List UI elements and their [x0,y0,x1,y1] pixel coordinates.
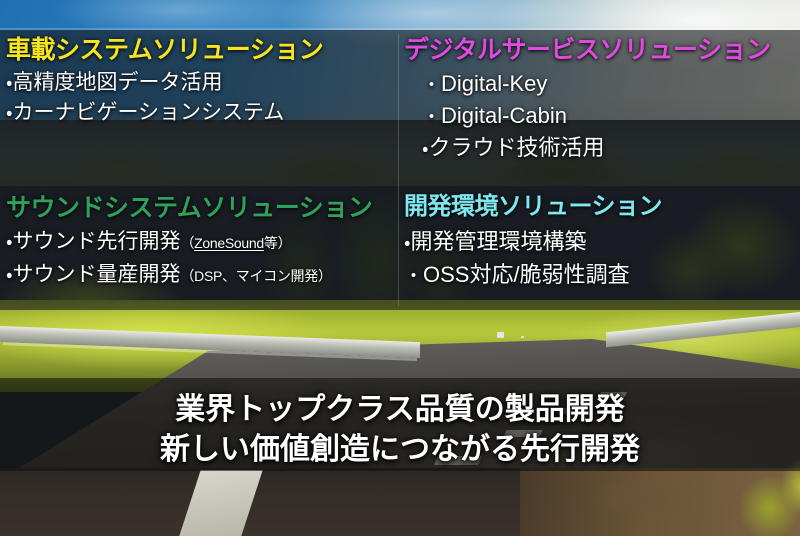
list-item-label: サウンド量産開発 [12,263,180,286]
list-item-note: （DSP、マイコン開発） [180,268,331,284]
list-development-environment-solution: ・開発管理環境構築 ・OSS対応/脆弱性調査 [404,225,798,292]
heading-sound-system-solution: サウンドシステムソリューション [6,194,398,222]
list-item-label: 高精度地図データ活用 [12,71,222,94]
bullet-icon: ・ [404,266,423,287]
list-item: ・サウンド先行開発（ZoneSound等） [6,226,398,259]
list-item: ・クラウド技術活用 [422,132,798,164]
quadrant-sound-system-solution: サウンドシステムソリューション ・サウンド先行開発（ZoneSound等） ・サ… [6,194,398,291]
list-item-label: 開発管理環境構築 [410,229,586,254]
list-item-label: サウンド先行開発 [12,230,180,253]
list-item: ・サウンド量産開発（DSP、マイコン開発） [6,259,398,292]
list-item-label: カーナビゲーションシステム [12,101,284,124]
list-item: ・カーナビゲーションシステム [6,98,398,128]
note-open-paren: （ [180,268,194,284]
list-item-note: （ZoneSound等） [180,235,291,251]
list-item-label: クラウド技術活用 [428,135,604,160]
list-item: ・高精度地図データ活用 [6,68,398,98]
list-item: ・Digital-Key [422,68,798,100]
heading-digital-service-solution: デジタルサービスソリューション [404,36,798,64]
banner-line-1: 業界トップクラス品質の製品開発 [0,390,800,430]
list-vehicle-system-solution: ・高精度地図データ活用 ・カーナビゲーションシステム [6,68,398,128]
heading-vehicle-system-solution: 車載システムソリューション [6,36,398,64]
list-item-label: Digital-Key [441,71,547,96]
slide-content: 車載システムソリューション ・高精度地図データ活用 ・カーナビゲーションシステム… [0,0,800,536]
list-sound-system-solution: ・サウンド先行開発（ZoneSound等） ・サウンド量産開発（DSP、マイコン… [6,226,398,291]
banner-line-2: 新しい価値創造につながる先行開発 [0,430,800,470]
list-item-label: OSS対応/脆弱性調査 [423,262,630,287]
bullet-icon: ・ [422,107,441,128]
bullet-icon: ・ [422,75,441,96]
list-item: ・開発管理環境構築 [404,225,798,259]
slide-canvas: 車載システムソリューション ・高精度地図データ活用 ・カーナビゲーションシステム… [0,0,800,536]
note-tail: 等） [264,235,291,251]
list-item: ・Digital-Cabin [422,100,798,132]
note-open-paren: （ [180,235,194,251]
list-digital-service-solution: ・Digital-Key ・Digital-Cabin ・クラウド技術活用 [404,68,798,164]
heading-development-environment-solution: 開発環境ソリューション [404,194,798,221]
note-tail: DSP、マイコン開発） [194,268,332,284]
list-item-label: Digital-Cabin [441,103,567,128]
note-underlined-term: ZoneSound [194,235,264,251]
quadrant-development-environment-solution: 開発環境ソリューション ・開発管理環境構築 ・OSS対応/脆弱性調査 [404,194,798,292]
quadrant-vehicle-system-solution: 車載システムソリューション ・高精度地図データ活用 ・カーナビゲーションシステム [6,36,398,128]
list-item: ・OSS対応/脆弱性調査 [404,258,798,292]
quadrant-digital-service-solution: デジタルサービスソリューション ・Digital-Key ・Digital-Ca… [404,36,798,164]
bottom-banner: 業界トップクラス品質の製品開発 新しい価値創造につながる先行開発 [0,390,800,470]
